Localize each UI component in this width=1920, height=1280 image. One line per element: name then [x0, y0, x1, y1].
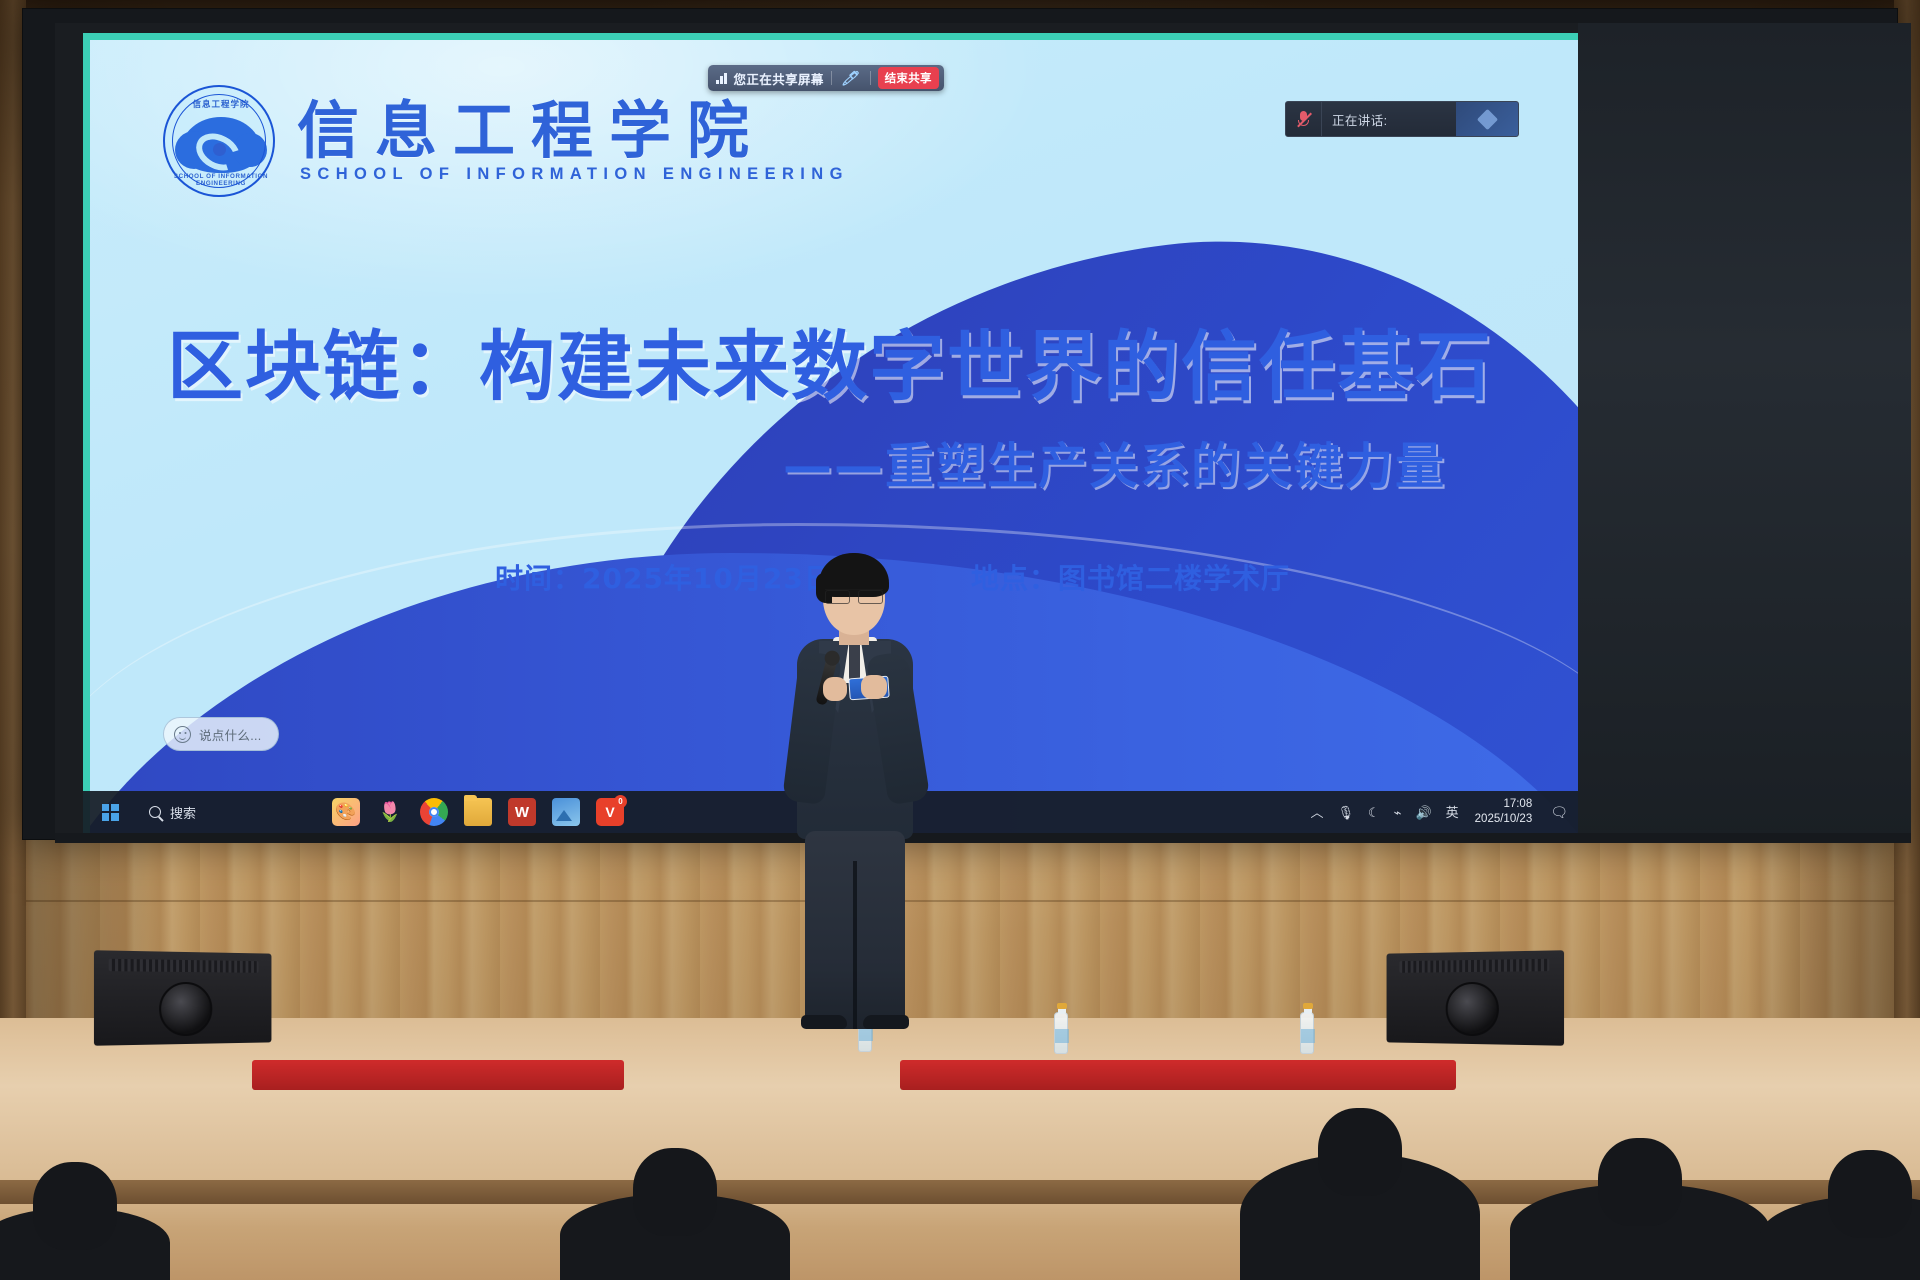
chat-placeholder-text: 说点什么...: [199, 725, 262, 744]
emblem-top-text: 信息工程学院: [165, 98, 277, 110]
stage-speaker-left: [94, 950, 272, 1046]
school-name-en: SCHOOL OF INFORMATION ENGINEERING: [297, 165, 849, 184]
taskbar-system-tray[interactable]: ︿ 🎙 ☾ ⌁ 🔊 英 17:08 2025/10/23 🗨: [1310, 797, 1578, 827]
audience-silhouette: [1510, 1184, 1770, 1280]
emblem-dot-shape: [213, 143, 226, 156]
presenter-hand-right: [861, 675, 887, 699]
accessibility-icon[interactable]: ☾: [1368, 806, 1380, 819]
network-icon[interactable]: ⌁: [1394, 806, 1402, 819]
audience-silhouette: [560, 1194, 790, 1280]
share-status-text: 您正在共享屏幕: [734, 69, 824, 88]
clock-date: 2025/10/23: [1475, 812, 1533, 827]
presenter-hand-left: [823, 677, 847, 701]
notification-center-icon[interactable]: 🗨: [1546, 804, 1568, 821]
search-input[interactable]: 搜索: [137, 798, 212, 826]
vo-meeting-icon[interactable]: 0: [596, 798, 624, 826]
vo-badge-count: 0: [614, 795, 627, 808]
presenter-shoe-left: [801, 1015, 847, 1029]
search-icon: [149, 806, 161, 818]
slide-subtitle: ——重塑生产关系的关键力量: [783, 427, 1446, 498]
presenter-person: [775, 549, 935, 1019]
school-logo-block: 信息工程学院 SCHOOL OF INFORMATION ENGINEERING…: [163, 85, 849, 197]
slide-meta-place: 地点：图书馆二楼学术厅: [971, 557, 1290, 597]
end-share-button[interactable]: 结束共享: [878, 67, 939, 89]
signal-bars-icon: [716, 73, 727, 84]
photos-app-icon[interactable]: [552, 798, 580, 826]
school-name-cn: 信息工程学院: [297, 98, 849, 164]
toolbar-divider: [831, 71, 832, 85]
audience-silhouette: [1240, 1154, 1480, 1280]
school-name-block: 信息工程学院 SCHOOL OF INFORMATION ENGINEERING: [297, 98, 849, 185]
ime-language-icon[interactable]: 英: [1446, 806, 1459, 819]
slide-title: 区块链：构建未来数字世界的信任基石: [167, 305, 1493, 415]
speaking-status-badge[interactable]: 正在讲话:: [1285, 101, 1519, 137]
taskbar-app-icons[interactable]: 0: [332, 798, 624, 826]
brand-diamond-icon: [1456, 102, 1518, 136]
volume-icon[interactable]: 🔊: [1415, 806, 1431, 819]
smiley-face-icon[interactable]: [174, 726, 191, 743]
paint-app-icon[interactable]: [332, 798, 360, 826]
microphone-muted-icon[interactable]: [1297, 111, 1310, 128]
taskbar-clock[interactable]: 17:08 2025/10/23: [1473, 797, 1533, 827]
water-bottle: [1300, 1012, 1314, 1054]
presenter-glasses: [825, 589, 883, 602]
screen-bottom-band: [55, 833, 1911, 843]
slide-meta-place-label: 地点：图书馆二楼学术厅: [971, 562, 1290, 595]
presenter-shoe-right: [863, 1015, 909, 1029]
show-hidden-icons[interactable]: ︿: [1310, 806, 1323, 819]
screen-dark-area: [1578, 23, 1911, 843]
toolbar-divider: [870, 71, 871, 85]
stage-bench-left: [252, 1060, 624, 1090]
mic-toggle-cell[interactable]: [1286, 102, 1322, 136]
annotate-pen-icon[interactable]: 🖊: [838, 71, 864, 85]
emblem-bottom-text: SCHOOL OF INFORMATION ENGINEERING: [165, 173, 277, 187]
chat-input-pill[interactable]: 说点什么...: [163, 717, 279, 751]
school-emblem-icon: 信息工程学院 SCHOOL OF INFORMATION ENGINEERING: [163, 85, 275, 197]
file-explorer-icon[interactable]: [464, 798, 492, 826]
search-label: 搜索: [170, 803, 196, 822]
water-bottle: [1054, 1012, 1068, 1054]
chrome-app-icon[interactable]: [420, 798, 448, 826]
microphone-icon[interactable]: 🎙: [1337, 806, 1354, 819]
presenter-tie: [849, 641, 860, 681]
clock-time: 17:08: [1475, 797, 1533, 812]
audience-silhouette: [0, 1208, 170, 1280]
wps-writer-icon[interactable]: [508, 798, 536, 826]
presenter-leg-split: [853, 861, 857, 1029]
flower-app-icon[interactable]: [376, 798, 404, 826]
windows-start-icon[interactable]: [83, 804, 137, 821]
stage-bench-right: [900, 1060, 1456, 1090]
screen-share-toolbar[interactable]: 您正在共享屏幕 🖊 结束共享: [708, 65, 944, 91]
stage-speaker-right: [1387, 950, 1565, 1046]
led-screen-frame: 信息工程学院 SCHOOL OF INFORMATION ENGINEERING…: [22, 8, 1898, 840]
speaking-label: 正在讲话:: [1322, 110, 1387, 129]
